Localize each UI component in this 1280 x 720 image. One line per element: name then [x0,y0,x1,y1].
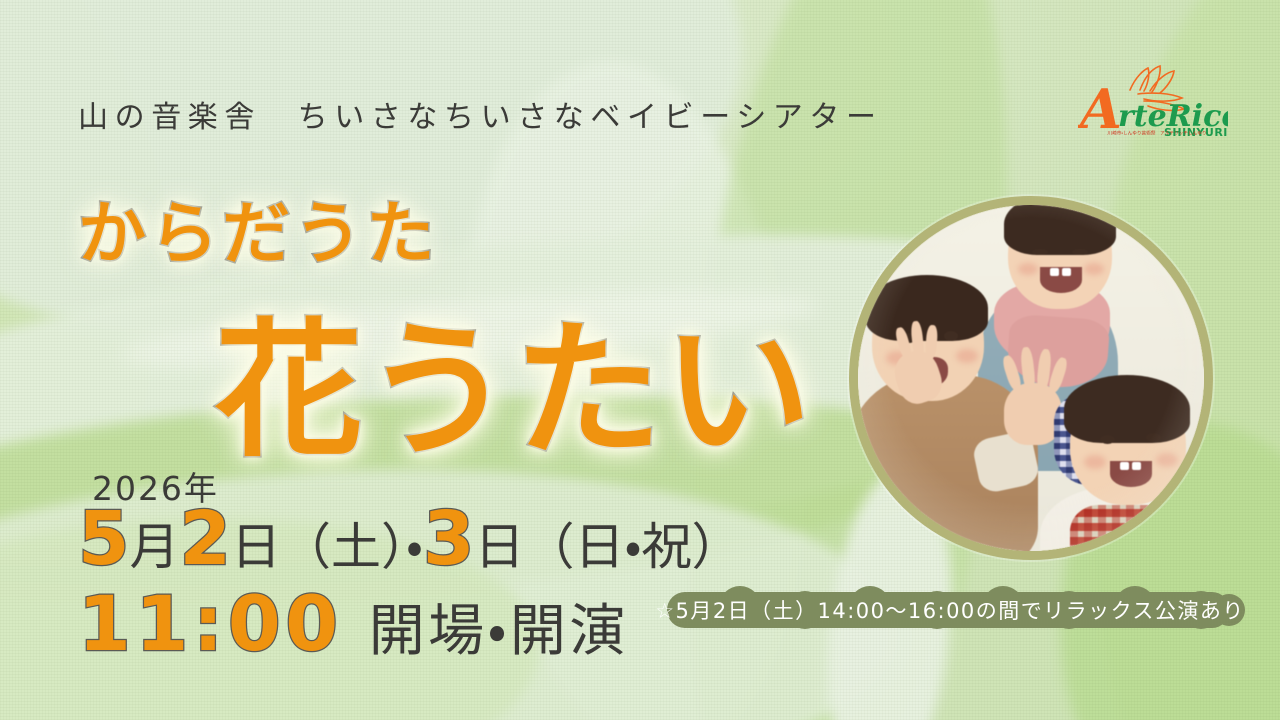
banner-text: ☆5月2日（土）14:00〜16:00の間でリラックス公演あり [645,586,1255,634]
relax-performance-banner: ☆5月2日（土）14:00〜16:00の間でリラックス公演あり [645,586,1255,634]
month-label: 月 [130,518,180,576]
subtitle: 山の音楽舎 ちいさなちいさなベイビーシアター [78,92,938,136]
day2-label: 日（日・祝） [475,518,742,576]
month-number: 5 [78,496,130,582]
date-line: 5月2日（土）・3日（日・祝） [78,502,742,576]
day1-label: 日（土） [231,518,406,576]
photo-inner [858,205,1204,551]
photo-vignette [858,205,1204,551]
title-main-hanautai: 花うたい [215,270,813,485]
date-separator: ・ [406,518,423,576]
poster-canvas: 山の音楽舎 ちいさなちいさなベイビーシアター A rteRicca SHINYU… [0,0,1280,720]
arte-ricca-logo[interactable]: A rteRicca SHINYURI 川崎市・しんゆり芸術祭 アルテリッチしん… [1078,60,1228,146]
title-subtitle-karadauta: からだうた [78,178,438,277]
time-line: 11:00開場・開演 [78,586,629,662]
babies-photo [849,196,1213,560]
logo-subtitle: 川崎市・しんゆり芸術祭 アルテリッチしんゆり [1092,130,1223,136]
day2-number: 3 [423,496,475,582]
open-time: 11:00 [78,579,343,668]
time-label: 開場・開演 [369,599,629,664]
day1-number: 2 [180,496,232,582]
